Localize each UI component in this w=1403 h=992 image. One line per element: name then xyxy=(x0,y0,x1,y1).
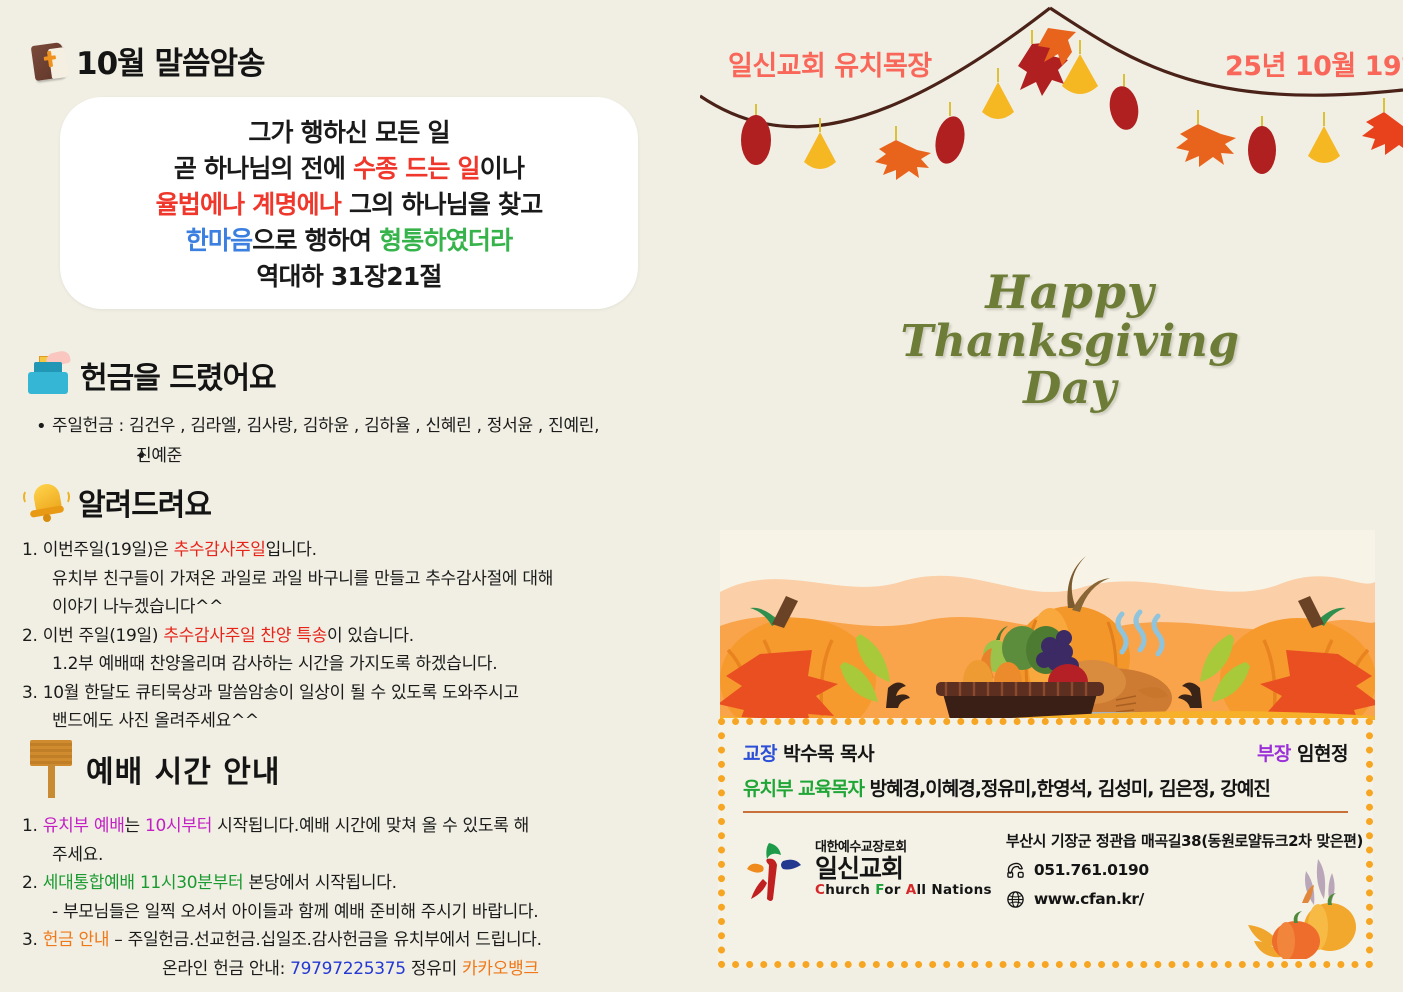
teachers-label: 유치부 교육목자 xyxy=(743,778,864,800)
church-logo: 대한예수교장로회 일신교회 Church For All Nations xyxy=(743,825,992,914)
vice-principal: 부장 임현정 xyxy=(1257,739,1348,766)
thanksgiving-greeting: Happy Thanksgiving Day xyxy=(860,268,1280,413)
autumn-leaf-garland-illustration xyxy=(700,0,1403,210)
divider xyxy=(743,811,1348,813)
offering-section-title: 헌금을 드렸어요 xyxy=(80,353,276,397)
page-title: 일신교회 유치목장 xyxy=(728,44,932,83)
verse-line-3: 율법에나 계명에나 그의 하나님을 찾고 xyxy=(76,187,622,223)
list-item: 주일헌금 : 김건우 , 김라엘, 김사랑, 김하윤 , 김하율 , 신혜린 ,… xyxy=(36,412,682,442)
worship-list: 1. 유치부 예배는 10시부터 시작됩니다.예배 시간에 맞쳐 올 수 있도록… xyxy=(22,812,712,983)
teachers-names: 방혜경,이혜경,정유미,한영석, 김성미, 김은정, 강예진 xyxy=(870,778,1270,800)
list-item: 1. 이번주일(19일)은 추수감사주일입니다. xyxy=(22,536,702,565)
staff-row: 교장 박수목 목사 부장 임현정 xyxy=(743,739,1348,766)
list-item: 3. 헌금 안내 – 주일헌금.선교헌금.십일조.감사헌금을 유치부에서 드립니… xyxy=(22,926,712,955)
church-name: 일신교회 xyxy=(815,855,992,883)
worship-section-header: 예배 시간 안내 xyxy=(22,738,712,800)
contact-lines: 부산시 기장군 정관읍 매곡길38(동원로얄듀크2차 맞은편) 051.761.… xyxy=(1006,825,1363,914)
bible-book-icon xyxy=(30,42,70,80)
verse-line-4: 한마음으로 행하여 형통하였더라 xyxy=(76,223,622,259)
verse-card: 그가 행하신 모든 일 곧 하나님의 전에 수종 드는 일이나 율법에나 계명에… xyxy=(60,97,638,309)
notice-item-1-line2: 유치부 친구들이 가져온 과일로 과일 바구니를 만들고 추수감사절에 대해 xyxy=(22,565,702,594)
offering-label: 주일헌금 : xyxy=(52,416,124,436)
worship-time-section: 예배 시간 안내 1. 유치부 예배는 10시부터 시작됩니다.예배 시간에 맞… xyxy=(22,738,712,983)
left-column: 10월 말씀암송 그가 행하신 모든 일 곧 하나님의 전에 수종 드는 일이나… xyxy=(0,0,700,992)
logo-text: 대한예수교장로회 일신교회 Church For All Nations xyxy=(815,841,992,899)
offering-section: 헌금을 드렸어요 주일헌금 : 김건우 , 김라엘, 김사랑, 김하윤 , 김하… xyxy=(22,352,682,472)
thanksgiving-line-2: Thanksgiving Day xyxy=(860,318,1280,413)
notice-list: 1. 이번주일(19일)은 추수감사주일입니다. 유치부 친구들이 가져온 과일… xyxy=(22,536,702,736)
verse-line-1: 그가 행하신 모든 일 xyxy=(76,115,622,151)
notice-section-header: 알려드려요 xyxy=(22,480,702,524)
church-website: www.cfan.kr/ xyxy=(1034,885,1144,914)
verse-line-2: 곧 하나님의 전에 수종 드는 일이나 xyxy=(76,151,622,187)
thanksgiving-line-1: Happy xyxy=(860,268,1280,318)
list-item: 1. 유치부 예배는 10시부터 시작됩니다.예배 시간에 맞쳐 올 수 있도록… xyxy=(22,812,712,841)
verse-reference: 역대하 31장21절 xyxy=(76,259,622,295)
bulletin-date: 25년 10월 19일 xyxy=(1225,44,1403,83)
notice-section-title: 알려드려요 xyxy=(78,480,211,524)
harvest-pumpkins-turkey-basket-illustration xyxy=(720,530,1375,720)
teachers-row: 유치부 교육목자 방혜경,이혜경,정유미,한영석, 김성미, 김은정, 강예진 xyxy=(743,774,1348,801)
notice-item-1-line3: 이야기 나누겠습니다^^ xyxy=(22,593,702,622)
contact-block: 대한예수교장로회 일신교회 Church For All Nations 부산시… xyxy=(743,825,1348,914)
right-column: 일신교회 유치목장 25년 10월 19일 Happy Thanksgiving… xyxy=(700,0,1403,992)
globe-icon xyxy=(1006,890,1025,909)
verse-section-title: 10월 말씀암송 xyxy=(76,38,265,83)
wooden-sign-icon xyxy=(22,738,80,800)
worship-item-2-line2: - 부모님들은 일찍 오셔서 아이들과 함께 예배 준비해 주시기 바랍니다. xyxy=(22,898,712,927)
verse-section-header: 10월 말씀암송 xyxy=(30,38,670,83)
verse-section: 10월 말씀암송 그가 행하신 모든 일 곧 하나님의 전에 수종 드는 일이나… xyxy=(30,38,670,309)
list-item: 2. 세대통합예배 11시30분부터 본당에서 시작됩니다. xyxy=(22,869,712,898)
notice-item-3-line2: 밴드에도 사진 올려주세요^^ xyxy=(22,707,702,736)
church-name-english: Church For All Nations xyxy=(815,883,992,898)
church-info-card: 교장 박수목 목사 부장 임현정 유치부 교육목자 방혜경,이혜경,정유미,한영… xyxy=(718,718,1373,968)
offering-list: 주일헌금 : 김건우 , 김라엘, 김사랑, 김하윤 , 김하율 , 신혜린 ,… xyxy=(22,412,682,472)
worship-section-title: 예배 시간 안내 xyxy=(86,747,281,791)
list-item: 3. 10월 한달도 큐티묵상과 말씀암송이 일상이 될 수 있도록 도와주시고 xyxy=(22,679,702,708)
worship-item-1-line2: 주세요. xyxy=(22,841,712,870)
bulletin-page: 10월 말씀암송 그가 행하신 모든 일 곧 하나님의 전에 수종 드는 일이나… xyxy=(0,0,1403,992)
address-line: 부산시 기장군 정관읍 매곡길38(동원로얄듀크2차 맞은편) xyxy=(1006,827,1363,856)
offering-section-header: 헌금을 드렸어요 xyxy=(22,352,682,398)
telephone-icon xyxy=(1006,861,1025,880)
church-phone: 051.761.0190 xyxy=(1034,856,1149,885)
list-item: 2. 이번 주일(19일) 추수감사주일 찬양 특송이 있습니다. xyxy=(22,622,702,651)
cross-dove-logo-icon xyxy=(743,839,805,901)
denomination-name: 대한예수교장로회 xyxy=(815,841,992,856)
notice-item-2-line2: 1.2부 예배때 찬양올리며 감사하는 시간을 가지도록 하겠습니다. xyxy=(22,650,702,679)
offering-names: 김건우 , 김라엘, 김사랑, 김하윤 , 김하율 , 신혜린 , 정서윤 , … xyxy=(129,416,599,436)
offering-names-continued: 진예준 xyxy=(136,442,682,472)
principal: 교장 박수목 목사 xyxy=(743,739,874,766)
notice-section: 알려드려요 1. 이번주일(19일)은 추수감사주일입니다. 유치부 친구들이 … xyxy=(22,480,702,736)
church-address: 부산시 기장군 정관읍 매곡길38(동원로얄듀크2차 맞은편) xyxy=(1006,827,1363,856)
offering-box-icon xyxy=(22,352,74,398)
worship-item-3-line2: 온라인 헌금 안내: 79797225375 정유미 카카오뱅크 xyxy=(22,955,712,984)
phone-line: 051.761.0190 xyxy=(1006,856,1363,885)
website-line: www.cfan.kr/ xyxy=(1006,885,1363,914)
bell-icon xyxy=(22,480,72,524)
